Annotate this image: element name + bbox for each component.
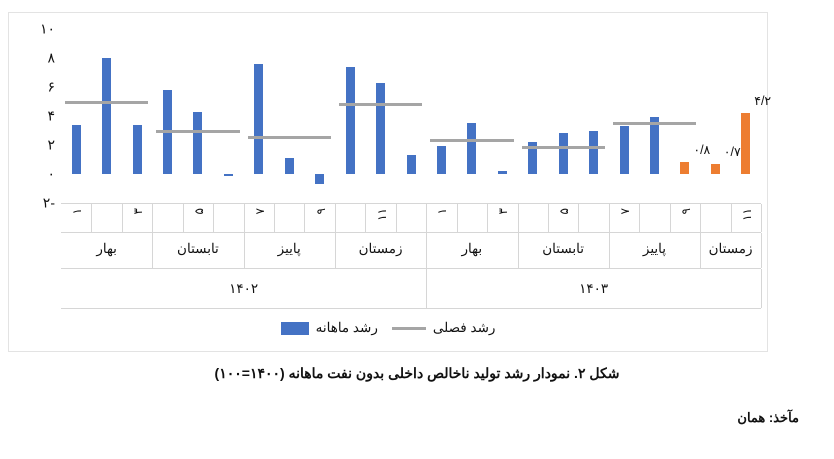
figure-source: مآخذ: همان [737, 410, 799, 426]
legend-bar-swatch-icon [281, 322, 309, 335]
month-tick-label: ۷ [618, 208, 632, 214]
month-tick-label: ۷ [253, 208, 267, 214]
bar-monthly-growth [102, 58, 111, 174]
year-label: ۱۴۰۲ [61, 281, 426, 297]
month-tick-label: ۱ [70, 208, 84, 214]
month-tick-label: ۱۱ [740, 208, 754, 221]
season-label: زمستان [335, 241, 426, 257]
bar-monthly-growth [254, 64, 263, 174]
month-tick-label: ۵ [192, 208, 206, 214]
month-tick-label: ۹ [679, 208, 693, 214]
month-tick [700, 204, 731, 232]
month-tick [639, 204, 670, 232]
bar-monthly-growth [437, 146, 446, 174]
bar-monthly-growth [650, 117, 659, 174]
bar-monthly-growth [589, 131, 598, 175]
seasonal-growth-line [339, 103, 422, 106]
month-tick-label: ۳ [496, 208, 510, 214]
legend-item-seasonal-growth: رشد فصلی [392, 320, 496, 336]
bar-monthly-growth [285, 158, 294, 174]
bar-monthly-growth [133, 125, 142, 174]
bar-monthly-growth [467, 123, 476, 174]
bar-monthly-growth [559, 133, 568, 174]
month-tick-label: ۱ [435, 208, 449, 214]
y-axis-tick-label: ۰ [47, 166, 55, 183]
season-label: پاییز [244, 241, 335, 257]
month-tick [578, 204, 609, 232]
bar-monthly-growth [498, 171, 507, 174]
y-axis-tick-label: ۱۰ [40, 21, 55, 38]
month-tick [274, 204, 305, 232]
bar-data-label: ۰/۸ [693, 142, 710, 157]
month-tick [335, 204, 366, 232]
month-tick [152, 204, 183, 232]
y-axis-tick-label: ۴ [47, 108, 55, 125]
bar-data-label: ۰/۷ [724, 144, 741, 159]
chart-legend: رشد ماهانه رشد فصلی [9, 316, 767, 340]
season-axis-band: بهارتابستانپاییززمستانبهارتابستانپاییززم… [61, 233, 761, 269]
year-label: ۱۴۰۳ [426, 281, 761, 297]
legend-label-seasonal-growth: رشد فصلی [433, 320, 496, 336]
month-tick-label: ۳ [131, 208, 145, 214]
bar-monthly-growth [620, 126, 629, 174]
bar-monthly-growth [224, 174, 233, 176]
seasonal-growth-line [430, 139, 513, 142]
y-axis-tick-label: ۸ [47, 50, 55, 67]
chart-frame: -۲۰۲۴۶۸۱۰۰/۸۰/۷۴/۲ ۱۳۵۷۹۱۱۱۳۵۷۹۱۱ بهارتا… [8, 12, 768, 352]
month-axis-band: ۱۳۵۷۹۱۱۱۳۵۷۹۱۱ [61, 203, 761, 233]
legend-label-monthly-growth: رشد ماهانه [316, 320, 378, 336]
y-axis-tick-label: ۲ [47, 137, 55, 154]
seasonal-growth-line [65, 101, 148, 104]
season-label: بهار [61, 241, 152, 257]
bar-monthly-growth [315, 174, 324, 184]
plot-area: -۲۰۲۴۶۸۱۰۰/۸۰/۷۴/۲ [61, 29, 761, 203]
bar-monthly-growth [741, 113, 750, 174]
seasonal-growth-line [522, 146, 605, 149]
bar-monthly-growth [407, 155, 416, 174]
bar-monthly-growth [680, 162, 689, 174]
seasonal-growth-line [613, 122, 696, 125]
seasonal-growth-line [156, 130, 239, 133]
bar-monthly-growth [711, 164, 720, 174]
y-axis-tick-label: -۲ [43, 195, 55, 212]
bar-monthly-growth [346, 67, 355, 174]
bar-monthly-growth [376, 83, 385, 174]
month-tick [457, 204, 488, 232]
seasonal-growth-line [248, 136, 331, 139]
season-label: زمستان [700, 241, 761, 257]
bar-monthly-growth [193, 112, 202, 174]
season-label: بهار [426, 241, 517, 257]
year-axis-band: ۱۴۰۲۱۴۰۳ [61, 269, 761, 309]
bar-data-label: ۴/۲ [754, 93, 771, 108]
month-tick-label: ۵ [557, 208, 571, 214]
season-label: پاییز [609, 241, 700, 257]
month-tick [91, 204, 122, 232]
month-tick [396, 204, 427, 232]
bar-monthly-growth [72, 125, 81, 174]
month-tick-label: ۹ [314, 208, 328, 214]
month-tick-label: ۱۱ [375, 208, 389, 221]
month-tick [213, 204, 244, 232]
season-label: تابستان [518, 241, 609, 257]
season-label: تابستان [152, 241, 243, 257]
figure-caption: شکل ۲. نمودار رشد تولید ناخالص داخلی بدو… [0, 365, 834, 382]
y-axis-tick-label: ۶ [47, 79, 55, 96]
month-tick [518, 204, 549, 232]
legend-line-swatch-icon [392, 327, 426, 330]
legend-item-monthly-growth: رشد ماهانه [281, 320, 378, 336]
